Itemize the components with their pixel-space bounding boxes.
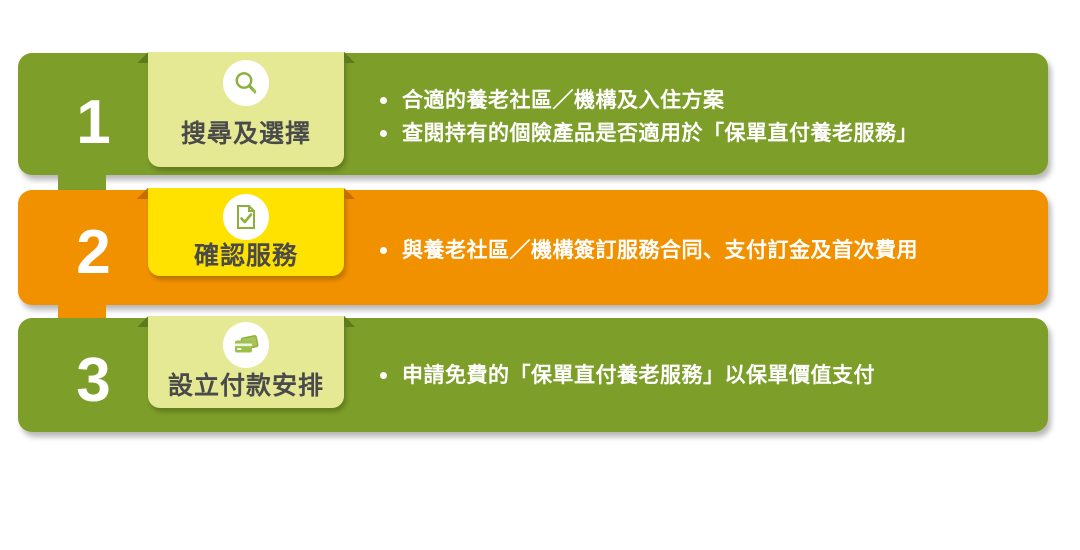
step-label-2: 確認服務 <box>148 236 344 272</box>
step-label-card-3: 設立付款安排 <box>148 316 344 408</box>
step-label-3: 設立付款安排 <box>148 366 344 402</box>
search-icon <box>223 60 269 106</box>
credit-card-icon <box>223 322 269 368</box>
step-number-3: 3 <box>48 350 138 412</box>
process-flow-diagram: 1 搜尋及選擇 合適的養老社區／機構及入住方案 查閱持有的個險產品是否適用於「保… <box>0 0 1080 550</box>
step-label-card-2: 確認服務 <box>148 188 344 276</box>
step-number-2: 2 <box>48 222 138 284</box>
fold-corner-left-icon <box>137 188 148 199</box>
step-bullets-2: 與養老社區／機構簽訂服務合同、支付訂金及首次費用 <box>378 235 1044 268</box>
list-item: 與養老社區／機構簽訂服務合同、支付訂金及首次費用 <box>378 235 1044 268</box>
fold-corner-left-icon <box>137 316 148 327</box>
fold-corner-right-icon <box>344 188 355 199</box>
fold-corner-right-icon <box>344 316 355 327</box>
list-item: 合適的養老社區／機構及入住方案 <box>378 85 1044 118</box>
step-bullets-3: 申請免費的「保單直付養老服務」以保單價值支付 <box>378 360 1044 393</box>
step-label-card-1: 搜尋及選擇 <box>148 52 344 167</box>
list-item: 查閱持有的個險產品是否適用於「保單直付養老服務」 <box>378 118 1044 151</box>
step-bullets-1: 合適的養老社區／機構及入住方案 查閱持有的個險產品是否適用於「保單直付養老服務」 <box>378 85 1044 150</box>
fold-corner-right-icon <box>344 52 355 63</box>
step-number-1: 1 <box>48 92 138 154</box>
list-item: 申請免費的「保單直付養老服務」以保單價值支付 <box>378 360 1044 393</box>
fold-corner-left-icon <box>137 52 148 63</box>
step-label-1: 搜尋及選擇 <box>148 114 344 150</box>
document-check-icon <box>223 194 269 240</box>
